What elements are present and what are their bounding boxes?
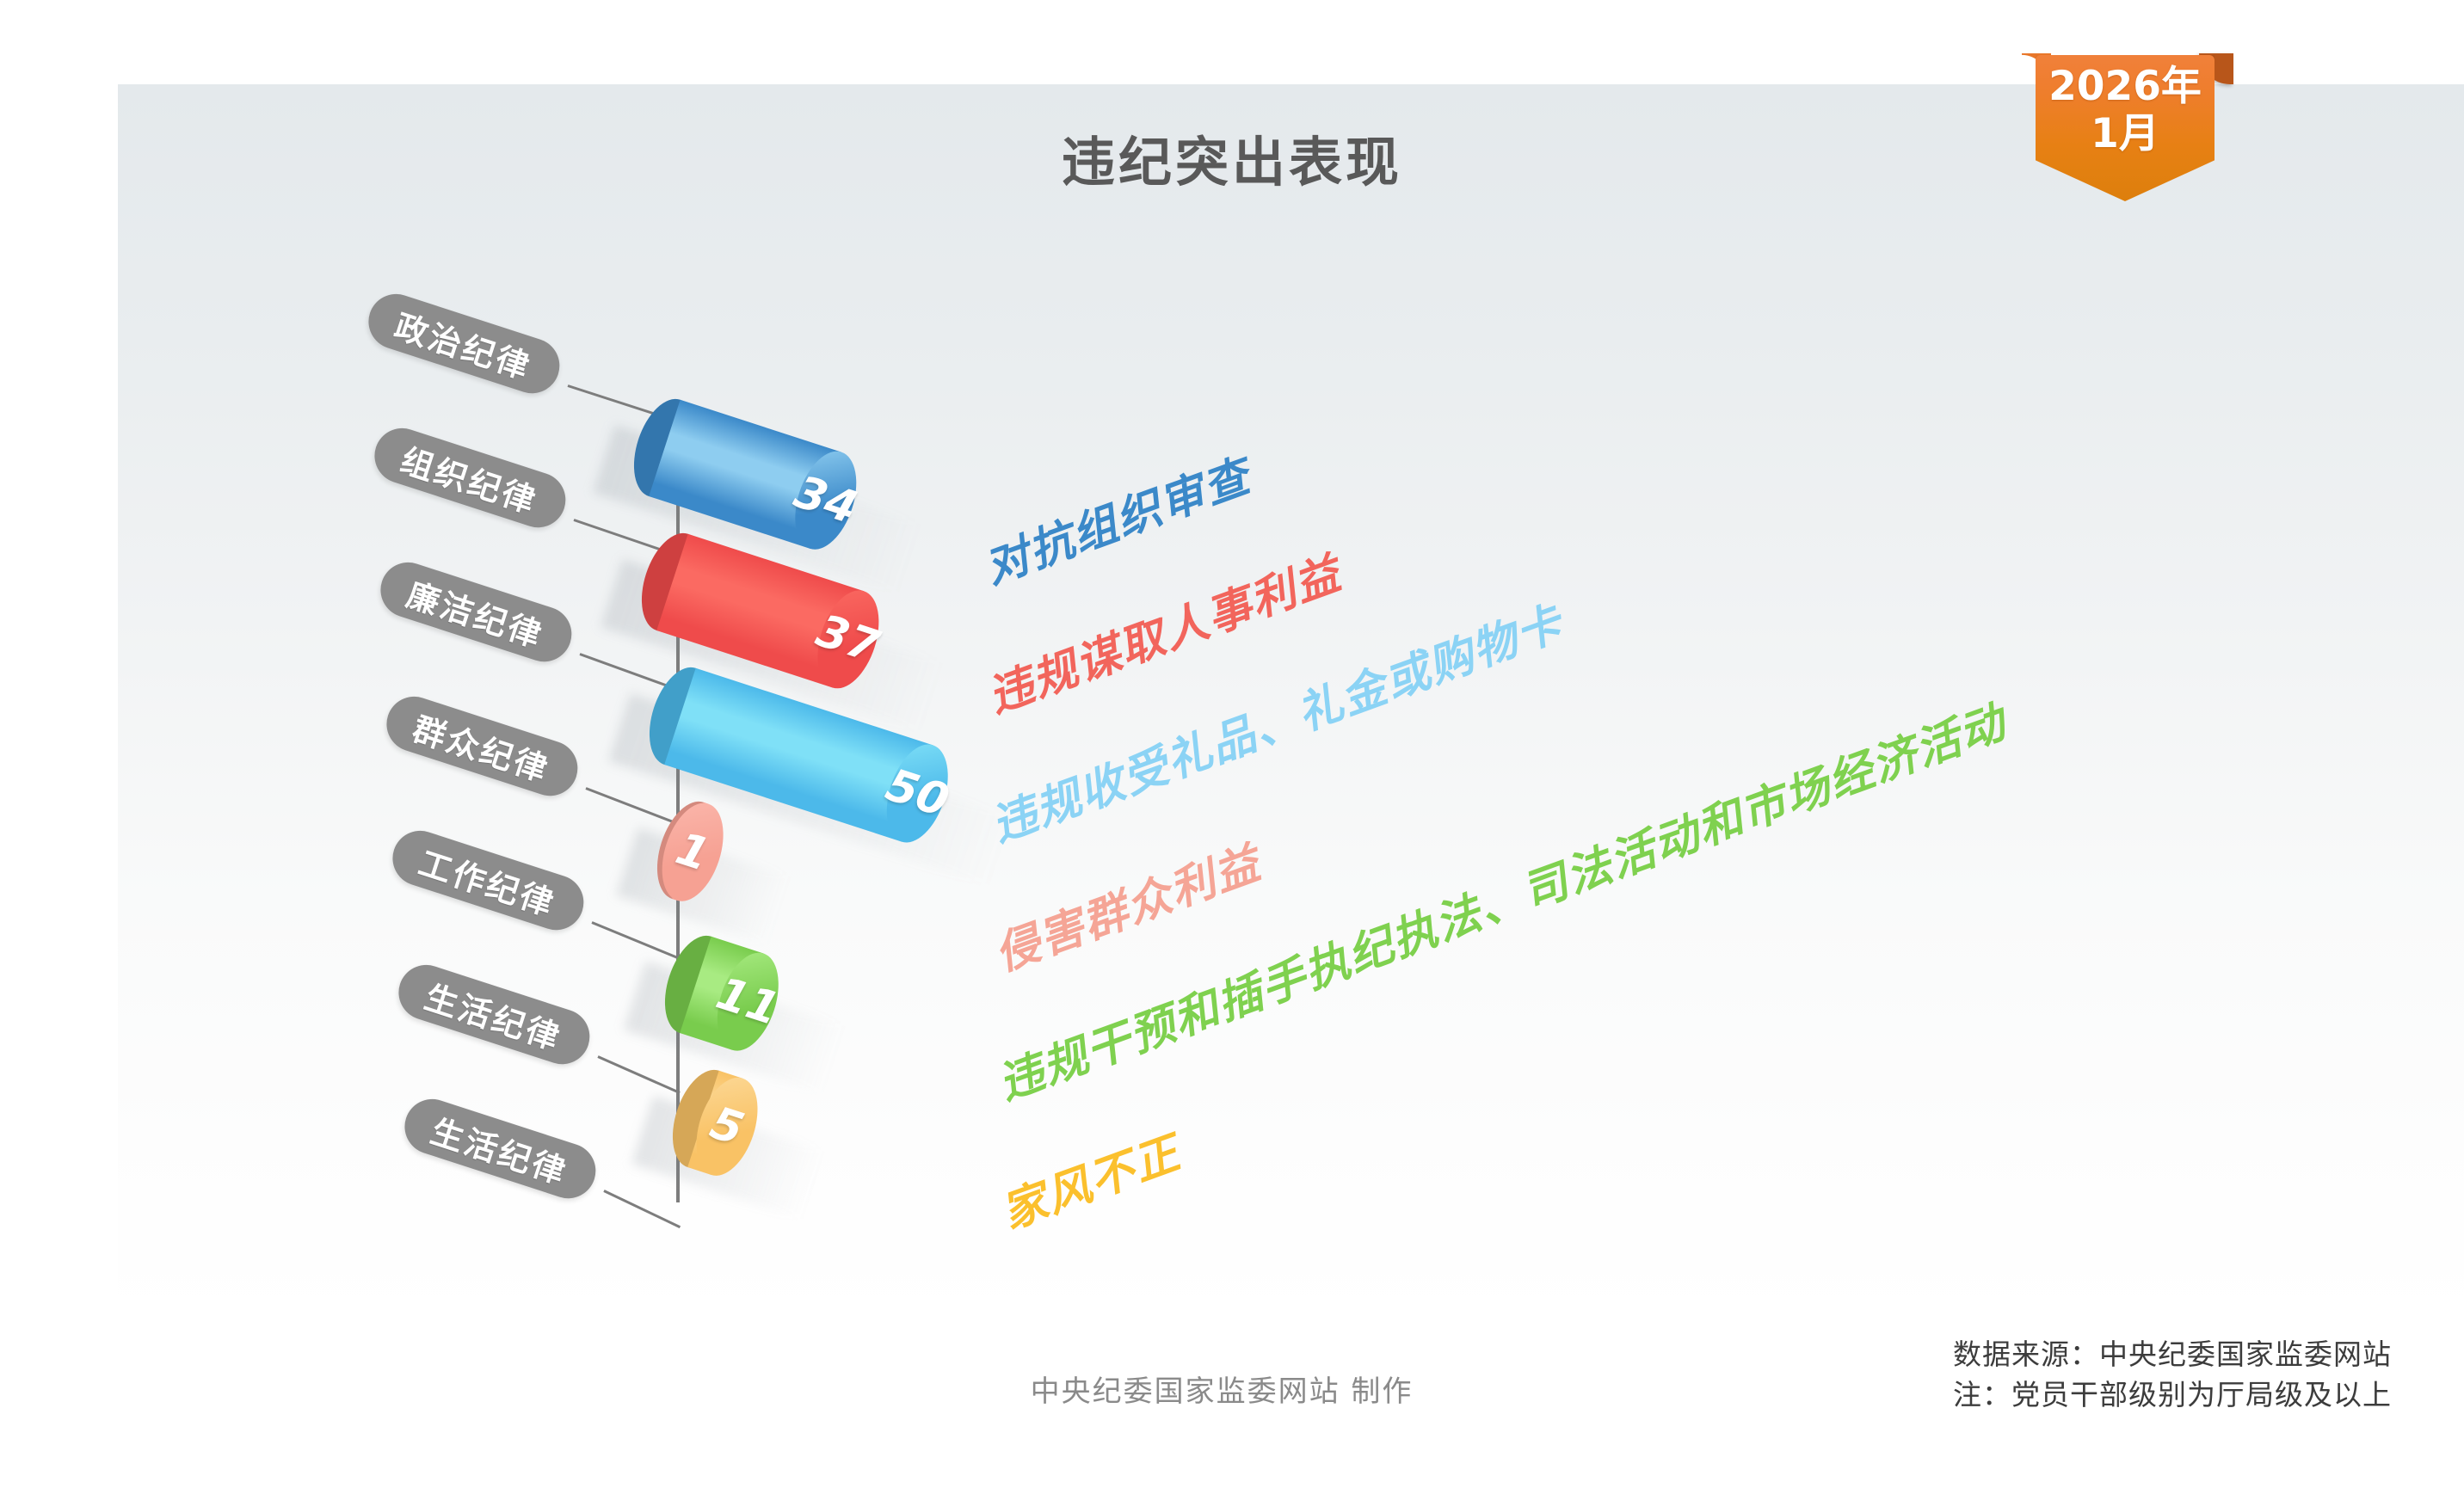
bar-value-label: 1 xyxy=(670,823,716,882)
date-badge-text: 2026年 1月 xyxy=(2036,64,2215,157)
date-badge: 2026年 1月 xyxy=(2022,45,2228,208)
background-panel xyxy=(118,84,2464,1488)
footer-notes: 数据来源：中央纪委国家监委网站 注：党员干部级别为厅局级及以上 xyxy=(1953,1335,2392,1416)
scope-note: 注：党员干部级别为厅局级及以上 xyxy=(1953,1375,2392,1416)
date-badge-year: 2026年 xyxy=(2036,64,2215,111)
bar-value-label: 5 xyxy=(705,1098,750,1156)
made-by-credit: 中央纪委国家监委网站 制作 xyxy=(964,1368,1480,1410)
date-badge-month: 1月 xyxy=(2036,111,2215,158)
data-source-note: 数据来源：中央纪委国家监委网站 xyxy=(1953,1335,2392,1375)
infographic-canvas: 违纪突出表现 2026年 1月 政治纪律组织纪律廉洁纪律群众纪律工作纪律生活纪律… xyxy=(0,0,2464,1488)
